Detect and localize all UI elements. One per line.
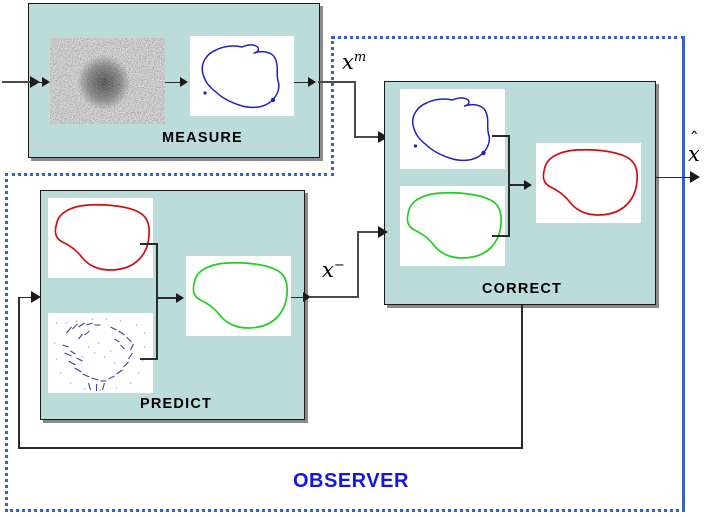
feedback-bottom-line: [18, 447, 523, 449]
xminus-path-v: [357, 232, 359, 296]
predict-merge-out-head: [176, 293, 184, 303]
signal-label-measurement: xm: [342, 50, 366, 74]
observer-boundary-right-join: [682, 36, 685, 512]
signal-estimate-wrap: ˆx: [688, 142, 700, 166]
signal-label-prediction: x−: [322, 258, 345, 282]
signal-measurement-superscript: m: [354, 50, 366, 65]
xhat-arrow-head: [690, 171, 700, 183]
measured-contour-svg: [190, 36, 294, 116]
correct-measurement-contour-svg: [400, 89, 505, 169]
prior-contour-svg: [48, 198, 153, 278]
correct-merge-top: [492, 135, 510, 137]
thumb-correct-prediction: [400, 186, 505, 266]
stage-predict-label: PREDICT: [140, 396, 212, 412]
signal-label-estimate: ˆx: [688, 142, 700, 166]
thumb-noisy-image: [50, 38, 165, 124]
motion-field-svg: [48, 313, 153, 393]
correct-prediction-contour-svg: [400, 186, 505, 266]
thumb-predicted-contour: [186, 256, 291, 336]
xm-path-h1: [318, 81, 356, 83]
measure-out-head: [308, 77, 316, 87]
predicted-contour-svg: [186, 256, 291, 336]
signal-measurement-symbol: x: [342, 50, 354, 74]
input-arrow-line: [2, 81, 32, 83]
signal-prediction-superscript: −: [334, 258, 345, 273]
stage-correct-label: CORRECT: [482, 281, 562, 297]
observer-diagram: OBSERVER MEASURE: [0, 0, 707, 517]
measure-internal-head: [180, 77, 188, 87]
thumb-motion-field: [48, 313, 153, 393]
predict-merge-bracket: [156, 243, 158, 359]
thumb-corrected-estimate: [536, 143, 641, 223]
xm-path-v: [354, 81, 356, 137]
feedback-down-line: [521, 305, 523, 449]
correct-merge-bottom: [492, 235, 510, 237]
input-to-noise-head: [42, 77, 50, 87]
feedback-up-line: [18, 297, 20, 448]
xhat-line: [656, 177, 694, 179]
xminus-arrow-head: [378, 226, 388, 238]
predict-merge-bottom: [140, 358, 158, 360]
feedback-arrow-head: [31, 291, 41, 303]
thumb-correct-measurement: [400, 89, 505, 169]
correct-merge-out-head: [524, 180, 532, 190]
noise-image-svg: [50, 38, 165, 124]
corrected-contour-svg: [536, 143, 641, 223]
signal-prediction-symbol: x: [322, 258, 334, 282]
observer-title: OBSERVER: [293, 470, 409, 493]
signal-estimate-accent: ˆ: [690, 131, 699, 149]
thumb-prior-contour: [48, 198, 153, 278]
observer-boundary-seam-dots: [5, 173, 334, 176]
stage-measure-label: MEASURE: [162, 130, 243, 146]
thumb-measured-contour: [190, 36, 294, 116]
xminus-path-h1: [309, 296, 359, 298]
correct-merge-bracket: [508, 135, 510, 236]
